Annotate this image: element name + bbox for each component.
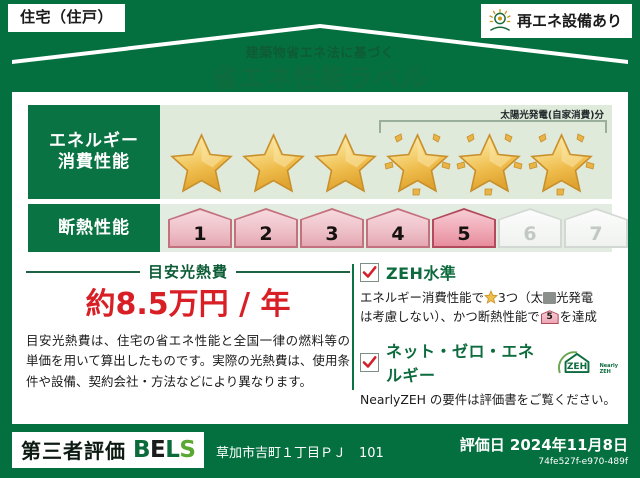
- grade-number: 6: [523, 223, 536, 245]
- utility-cost-column: 目安光熱費 約8.5万円 / 年 目安光熱費は、住宅の省エネ性能と全国一律の燃料…: [26, 260, 350, 392]
- inline-star-icon: [484, 290, 498, 304]
- renewable-equipment-badge: 再エネ設備あり: [481, 4, 632, 38]
- energy-label-line1: エネルギー: [49, 131, 139, 152]
- label-title: 省エネ性能ラベル: [0, 58, 640, 95]
- grade-number: 7: [589, 223, 602, 245]
- grade-number: 5: [457, 223, 470, 245]
- evaluation-info: 評価日 2024年11月8日 74fe527f-e970-489f: [460, 434, 628, 467]
- energy-label-line2: 消費性能: [58, 152, 130, 173]
- insulation-performance-label-block: 断熱性能: [28, 204, 160, 252]
- star-1: [166, 127, 237, 197]
- checkbox-checked-icon: [360, 353, 379, 372]
- zeh-standard-description: エネルギー消費性能で3つ（太光発電 は考慮しない）、かつ断熱性能で5を達成: [360, 288, 618, 326]
- grade-number: 4: [391, 223, 404, 245]
- insulation-grade-2: 2: [234, 208, 298, 248]
- utility-cost-description: 目安光熱費は、住宅の省エネ性能と全国一律の燃料等の単価を用いて算出したものです。…: [26, 331, 350, 392]
- net-zero-energy-row: ネット・ゼロ・エネルギー ZEH Nearly ZEH: [360, 338, 618, 386]
- star-5-solar: [454, 127, 525, 197]
- star-2: [238, 127, 309, 197]
- net-zero-energy-description: NearlyZEH の要件は評価書をご覧ください。: [360, 390, 618, 409]
- utility-cost-heading-text: 目安光熱費: [148, 261, 228, 282]
- column-divider: [352, 264, 354, 390]
- grade-number: 2: [259, 223, 272, 245]
- zeh-desc-line2-b: を達成: [560, 309, 597, 324]
- zeh-desc-part1: エネルギー消費性能で: [360, 290, 484, 305]
- insulation-grade-1: 1: [168, 208, 232, 248]
- insulation-grade-7: 7: [564, 208, 628, 248]
- star-3: [310, 127, 381, 197]
- insulation-grade-3: 3: [300, 208, 364, 248]
- heading-rule-right: [236, 271, 350, 273]
- inline-grade-5-icon: 5: [541, 310, 559, 324]
- energy-stars-area: 太陽光発電(自家消費)分: [160, 105, 612, 199]
- bels-wordmark: BELS: [133, 437, 195, 463]
- energy-performance-row: エネルギー 消費性能 太陽光発電(自家消費)分: [28, 105, 612, 199]
- evaluation-date: 評価日 2024年11月8日: [460, 434, 628, 455]
- bels-letter-b: B: [133, 437, 150, 463]
- svg-text:ZEH: ZEH: [566, 362, 586, 372]
- star-rating: [166, 127, 597, 197]
- zeh-house-logo-icon: ZEH: [556, 350, 598, 375]
- zeh-sub-line2: ZEH: [600, 369, 611, 375]
- zeh-standard-title: ZEH水準: [386, 260, 456, 284]
- insulation-grade-5-achieved: 5: [432, 208, 496, 248]
- insulation-grade-list: 1 2 3 4: [168, 208, 628, 248]
- zeh-logo-subtext: Nearly ZEH: [600, 364, 618, 375]
- grade-number: 1: [193, 223, 206, 245]
- grade-number: 3: [325, 223, 338, 245]
- sun-bulb-icon: [487, 8, 513, 34]
- bels-logo-box: 第三者評価 BELS: [12, 432, 204, 468]
- utility-cost-value: 約8.5万円 / 年: [26, 288, 350, 321]
- lower-section: 目安光熱費 約8.5万円 / 年 目安光熱費は、住宅の省エネ性能と全国一律の燃料…: [12, 260, 628, 420]
- solar-generation-note: 太陽光発電(自家消費)分: [500, 107, 604, 121]
- net-zero-energy-title: ネット・ゼロ・エネルギー: [386, 338, 545, 386]
- star-6-solar: [526, 127, 597, 197]
- zeh-desc-line2-a: は考慮しない）、かつ断熱性能で: [360, 309, 540, 324]
- footer-bar: 第三者評価 BELS 草加市吉町１丁目ＰＪ 101 評価日 2024年11月8日…: [0, 428, 640, 478]
- energy-performance-label-block: エネルギー 消費性能: [28, 105, 160, 199]
- heading-rule-left: [26, 271, 140, 273]
- property-address: 草加市吉町１丁目ＰＪ 101: [216, 442, 384, 461]
- redacted-character: [543, 292, 556, 304]
- renewable-badge-label: 再エネ設備あり: [517, 13, 622, 30]
- zeh-column: ZEH水準 エネルギー消費性能で3つ（太光発電 は考慮しない）、かつ断熱性能で5…: [360, 260, 618, 410]
- zeh-standard-row: ZEH水準: [360, 260, 618, 284]
- insulation-grade-6: 6: [498, 208, 562, 248]
- zeh-desc-part2: 光発電: [556, 290, 593, 305]
- bels-letter-s: S: [179, 437, 195, 463]
- utility-cost-heading: 目安光熱費: [26, 261, 350, 282]
- bels-letter-l: L: [165, 437, 179, 463]
- star-4-solar: [382, 127, 453, 197]
- label-body: エネルギー 消費性能 太陽光発電(自家消費)分: [12, 92, 628, 424]
- insulation-grades-area: 1 2 3 4: [160, 204, 612, 252]
- checkbox-checked-icon: [360, 263, 379, 282]
- bels-letter-e: E: [150, 437, 165, 463]
- inline-grade-number: 5: [541, 311, 559, 325]
- insulation-performance-row: 断熱性能 1 2: [28, 204, 612, 252]
- zeh-logo: ZEH Nearly ZEH: [556, 350, 618, 375]
- dwelling-type-badge: 住宅（住戸）: [8, 4, 125, 32]
- energy-performance-label: 住宅（住戸） 再エネ設備あり 建築物省エネ法に基づく 省エネ性能ラベル: [0, 0, 640, 478]
- third-party-evaluation-text: 第三者評価: [21, 435, 126, 464]
- insulation-label: 断熱性能: [58, 218, 130, 239]
- evaluation-id: 74fe527f-e970-489f: [460, 457, 628, 467]
- zeh-desc-star-count: 3つ（太: [498, 290, 543, 305]
- insulation-grade-4: 4: [366, 208, 430, 248]
